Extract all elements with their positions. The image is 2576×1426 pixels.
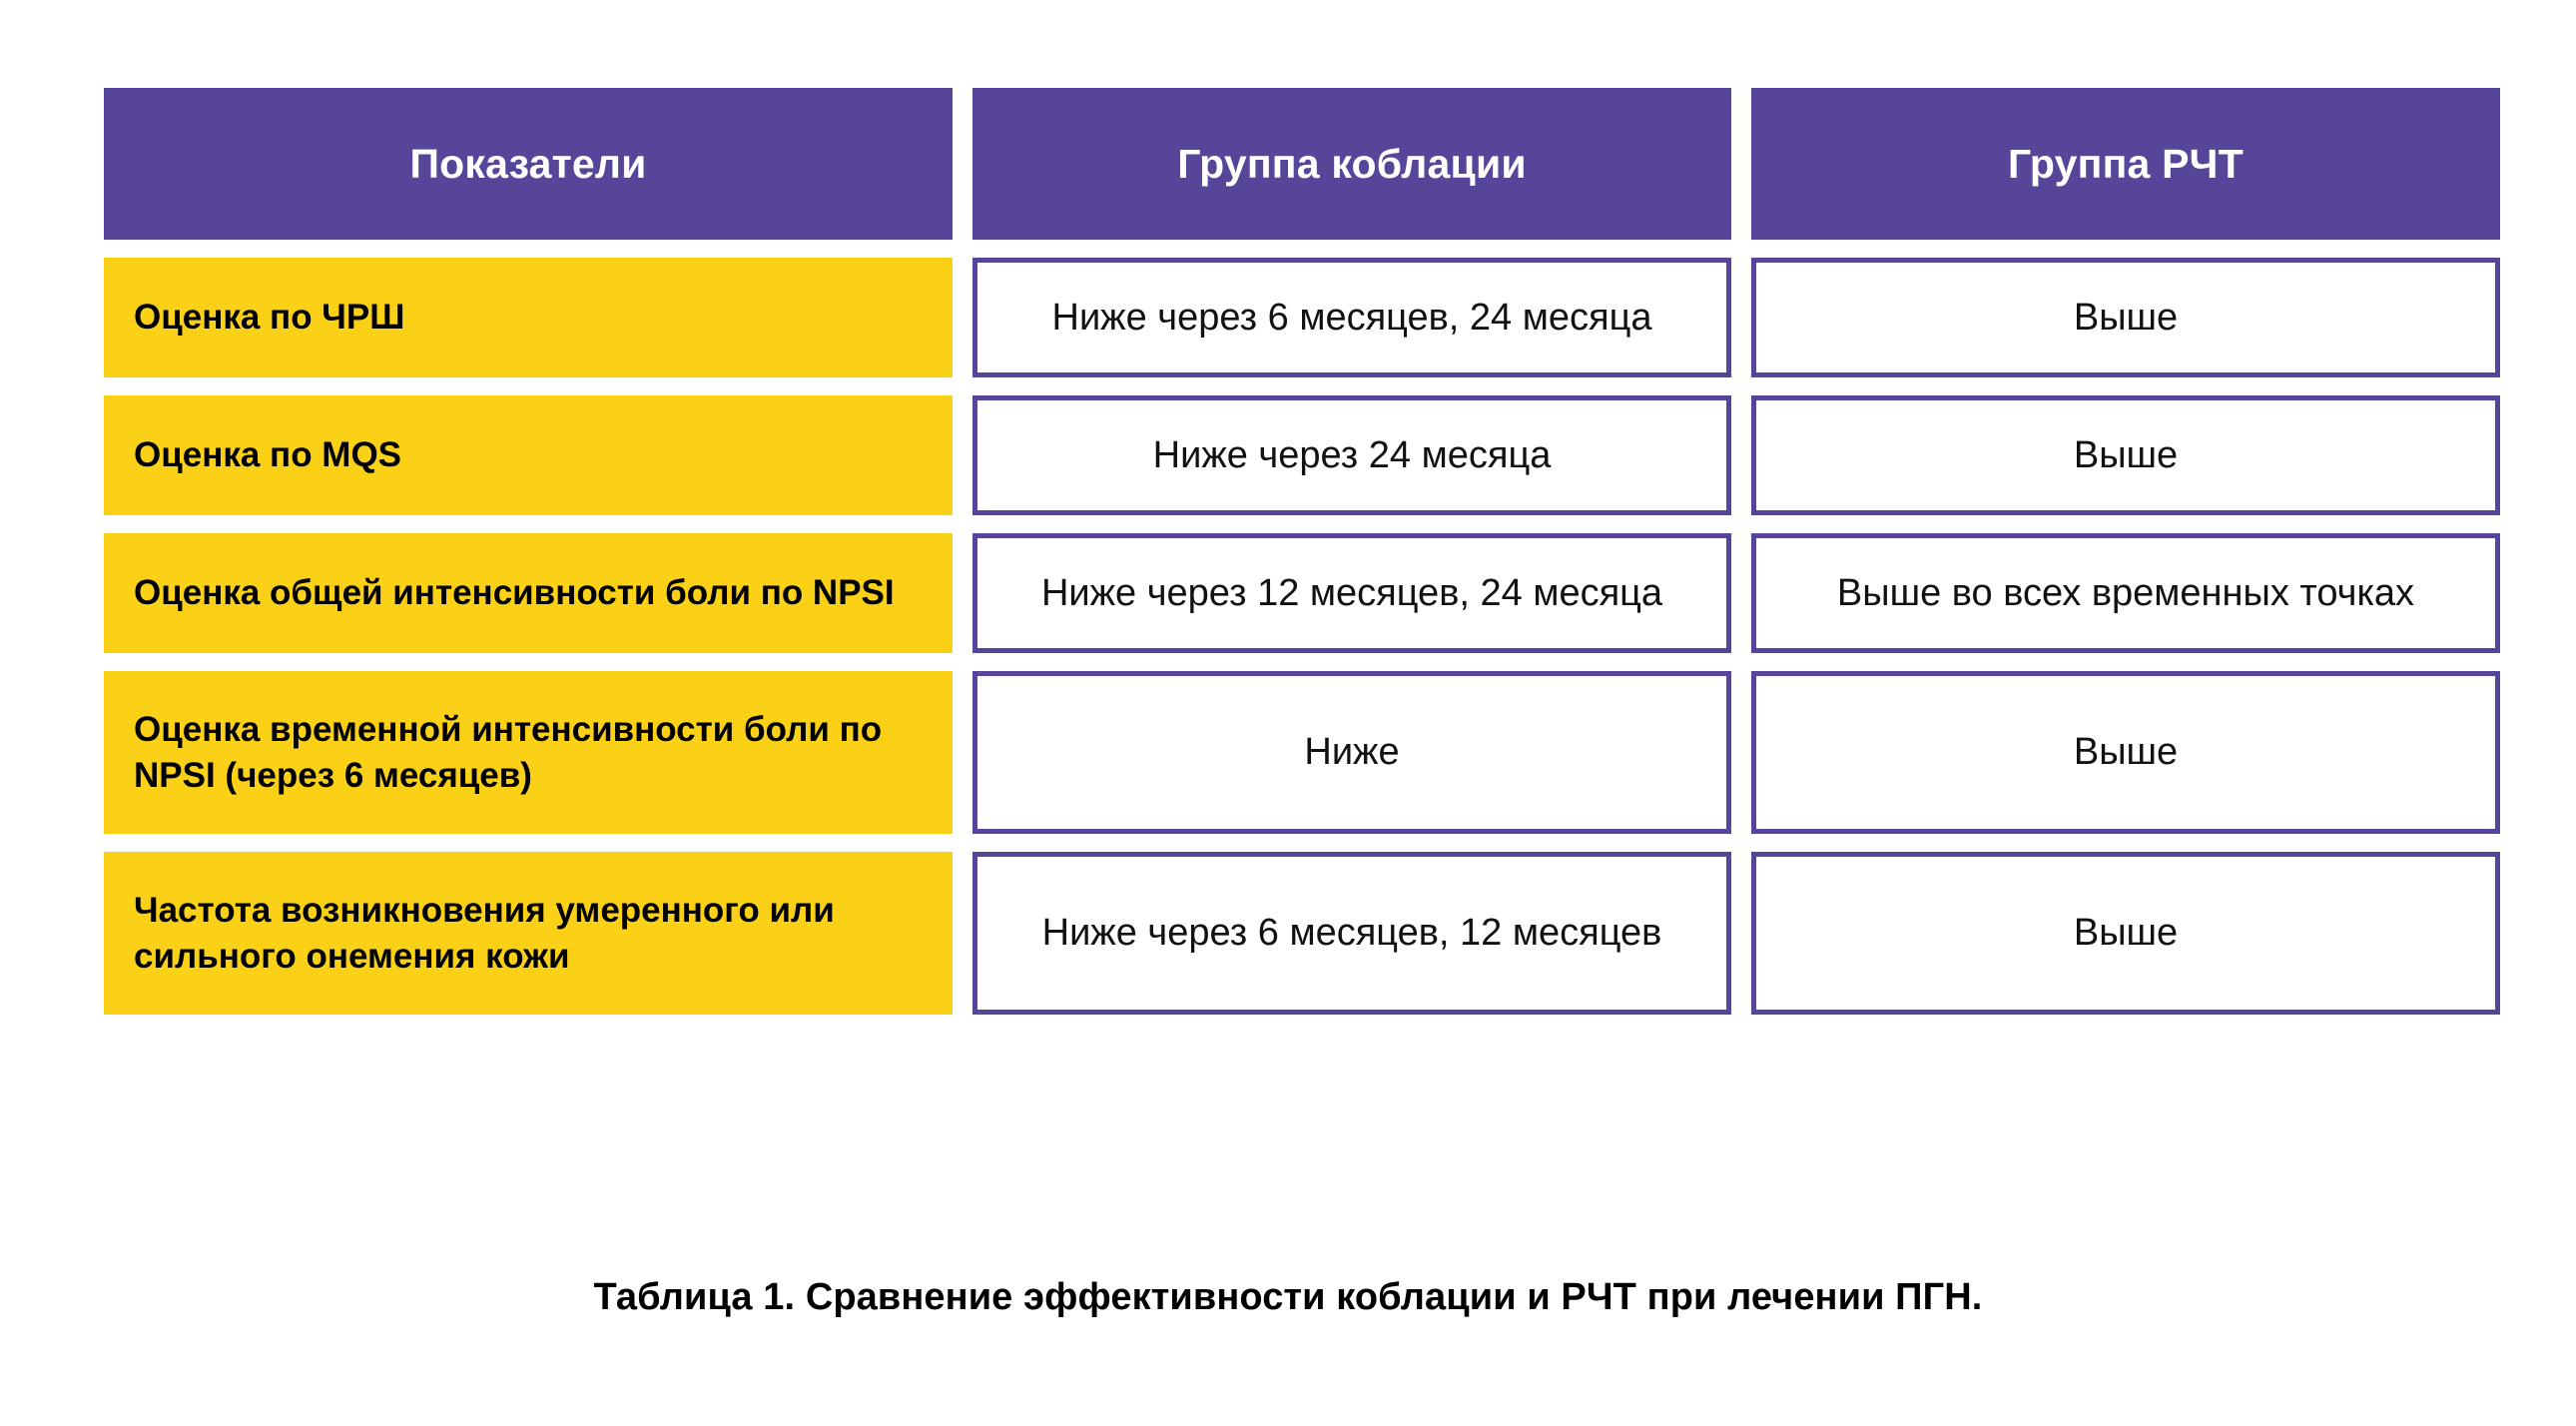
coblation-cell: Ниже через 6 месяцев, 24 месяца [972,258,1731,377]
coblation-cell: Ниже через 12 месяцев, 24 месяца [972,533,1731,653]
rft-cell: Выше [1751,395,2500,515]
table-body: Показатели Группа коблации Группа РЧТ Оц… [104,88,2500,1015]
metric-cell: Оценка по MQS [104,395,953,515]
table-caption: Таблица 1. Сравнение эффективности кобла… [0,1276,2576,1319]
comparison-table: Показатели Группа коблации Группа РЧТ Оц… [104,88,2500,1015]
rft-cell: Выше [1751,258,2500,377]
metric-cell: Частота возникновения умеренного или сил… [104,852,953,1015]
rft-cell: Выше [1751,671,2500,834]
coblation-cell: Ниже [972,671,1731,834]
metric-cell: Оценка временной интенсивности боли по N… [104,671,953,834]
coblation-cell: Ниже через 6 месяцев, 12 месяцев [972,852,1731,1015]
column-header-metrics: Показатели [104,88,953,240]
column-header-coblation-group: Группа коблации [972,88,1731,240]
table-row: Оценка по MQS Ниже через 24 месяца Выше [104,395,2500,515]
table-row: Оценка по ЧРШ Ниже через 6 месяцев, 24 м… [104,258,2500,377]
coblation-cell: Ниже через 24 месяца [972,395,1731,515]
rft-cell: Выше [1751,852,2500,1015]
table-row: Частота возникновения умеренного или сил… [104,852,2500,1015]
table-row: Оценка временной интенсивности боли по N… [104,671,2500,834]
page-root: Показатели Группа коблации Группа РЧТ Оц… [0,0,2576,1426]
table-row: Оценка общей интенсивности боли по NPSI … [104,533,2500,653]
metric-cell: Оценка по ЧРШ [104,258,953,377]
table-header-row: Показатели Группа коблации Группа РЧТ [104,88,2500,240]
rft-cell: Выше во всех временных точках [1751,533,2500,653]
column-header-rft-group: Группа РЧТ [1751,88,2500,240]
metric-cell: Оценка общей интенсивности боли по NPSI [104,533,953,653]
